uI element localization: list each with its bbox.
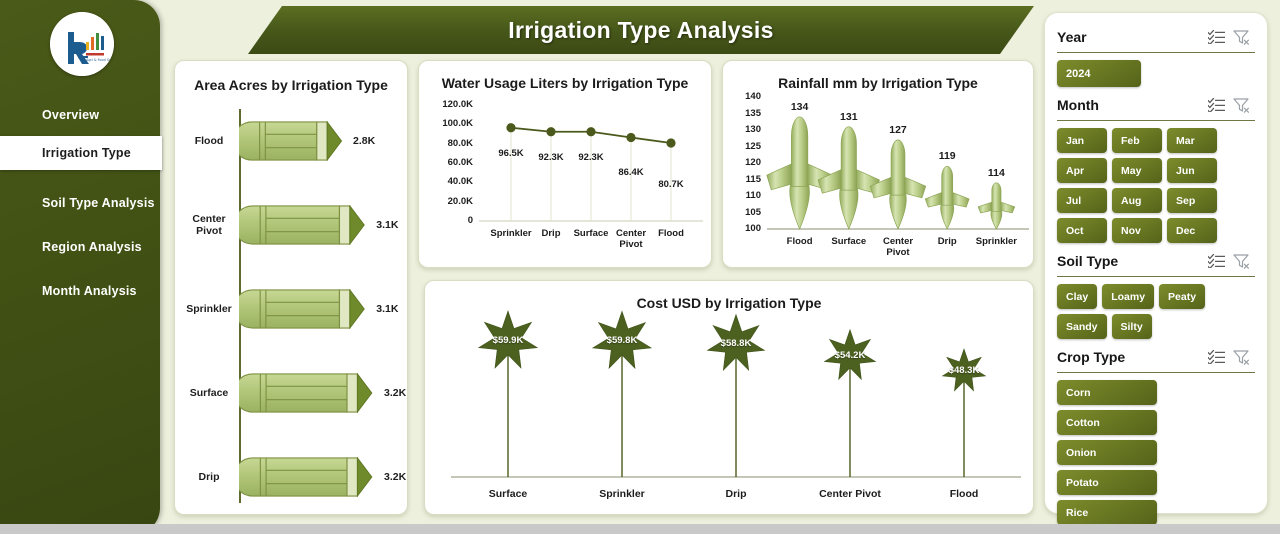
water-point-label: 80.7K [647,179,695,190]
slicer-divider [1057,52,1255,53]
slicer-chip-silty[interactable]: Silty [1112,314,1152,339]
slicer-title: Year [1057,29,1203,45]
clear-filter-button[interactable] [1229,98,1255,113]
multi-select-button[interactable] [1203,98,1229,112]
filter-panel: Year2024MonthJanFebMarAprMayJunJulAugSep… [1044,12,1268,514]
page-header-banner: Irrigation Type Analysis [248,6,1034,54]
acres-category-label: Drip [181,449,237,505]
slicer-divider [1057,120,1255,121]
slicer-chip-mar[interactable]: Mar [1167,128,1217,153]
slicer-chip-sandy[interactable]: Sandy [1057,314,1107,339]
water-x-tick: Flood [645,229,697,240]
rainfall-x-tick: Flood [773,237,827,248]
rainfall-value-label: 131 [827,111,871,123]
acres-bar-row[interactable]: Flood2.8K [175,113,409,169]
slicer-chip-dec[interactable]: Dec [1167,218,1217,243]
acres-value-label: 3.1K [376,197,398,253]
multi-select-icon [1208,30,1225,44]
slicer-chip-peaty[interactable]: Peaty [1159,284,1205,309]
slicer-soil-type: Soil TypeClayLoamyPeatySandySilty [1057,249,1255,339]
clear-filter-icon [1233,350,1251,365]
acres-bar-row[interactable]: Surface3.2K [175,365,409,421]
sidebar-item-label: Irrigation Type [42,146,131,160]
slicer-chip-cotton[interactable]: Cotton [1057,410,1157,435]
slicer-chip-corn[interactable]: Corn [1057,380,1157,405]
rainfall-rocket [767,117,833,229]
company-logo: Agri & Food Supply [50,12,114,76]
slicer-chip-may[interactable]: May [1112,158,1162,183]
slicer-chip-apr[interactable]: Apr [1057,158,1107,183]
cost-x-tick: Flood [920,488,1008,500]
rainfall-rocket [978,183,1015,229]
slicer-header: Soil Type [1057,249,1255,273]
clear-filter-button[interactable] [1229,254,1255,269]
slicer-month: MonthJanFebMarAprMayJunJulAugSepOctNovDe… [1057,93,1255,243]
water-point-label: 92.3K [567,152,615,163]
acres-category-label: Sprinkler [181,281,237,337]
acres-bar-shape [239,289,368,329]
rainfall-x-tick: Sprinkler [969,237,1023,248]
dashboard-root: Agri & Food Supply Overview Irrigation T… [0,0,1280,534]
acres-bar-shape [239,205,368,245]
sidebar-item-soil-type-analysis[interactable]: Soil Type Analysis [0,186,160,220]
acres-bar-shape [239,373,376,413]
slicer-crop-type: Crop TypeCornCottonOnionPotatoRiceSoybea… [1057,345,1255,534]
chart-card-cost: Cost USD by Irrigation Type $59.9K$59.8K… [424,280,1034,515]
slicer-year: Year2024 [1057,25,1255,87]
slicer-divider [1057,276,1255,277]
slicer-chip-aug[interactable]: Aug [1112,188,1162,213]
rainfall-rocket [870,140,925,229]
slicer-title: Month [1057,97,1203,113]
rainfall-value-label: 134 [778,101,822,113]
rainfall-value-label: 119 [925,150,969,162]
clear-filter-icon [1233,98,1251,113]
cost-x-tick: Sprinkler [578,488,666,500]
slicer-title: Crop Type [1057,349,1203,365]
multi-select-icon [1208,254,1225,268]
cost-x-tick: Center Pivot [806,488,894,500]
slicer-chip-potato[interactable]: Potato [1057,470,1157,495]
clear-filter-icon [1233,254,1251,269]
slicer-title: Soil Type [1057,253,1203,269]
rainfall-x-tick: Surface [822,237,876,248]
rainfall-value-label: 127 [876,124,920,136]
clear-filter-button[interactable] [1229,350,1255,365]
slicer-options: 2024 [1057,60,1255,87]
slicer-header: Crop Type [1057,345,1255,369]
acres-value-label: 3.2K [384,365,406,421]
chart-card-rainfall: Rainfall mm by Irrigation Type 100105110… [722,60,1034,268]
rainfall-rocket [925,166,969,229]
acres-category-label: Surface [181,365,237,421]
sidebar-item-overview[interactable]: Overview [0,98,160,132]
slicer-chip-jun[interactable]: Jun [1167,158,1217,183]
multi-select-icon [1208,98,1225,112]
page-title: Irrigation Type Analysis [508,17,773,44]
acres-bar-row[interactable]: Center Pivot3.1K [175,197,409,253]
clear-filter-button[interactable] [1229,30,1255,45]
logo-mark: Agri & Food Supply [50,12,114,76]
slicer-header: Year [1057,25,1255,49]
acres-value-label: 3.2K [384,449,406,505]
rainfall-rocket [818,127,879,229]
slicer-chip-2024[interactable]: 2024 [1057,60,1141,87]
acres-category-label: Center Pivot [181,197,237,253]
slicer-options: JanFebMarAprMayJunJulAugSepOctNovDec [1057,128,1255,243]
slicer-chip-oct[interactable]: Oct [1057,218,1107,243]
sidebar-item-label: Region Analysis [42,240,142,254]
acres-value-label: 3.1K [376,281,398,337]
slicer-chip-clay[interactable]: Clay [1057,284,1097,309]
svg-text:Agri & Food Supply: Agri & Food Supply [86,58,114,62]
multi-select-button[interactable] [1203,254,1229,268]
slicer-header: Month [1057,93,1255,117]
slicer-options: CornCottonOnionPotatoRiceSoybeanSugarcan… [1057,380,1255,534]
multi-select-icon [1208,350,1225,364]
slicer-chip-nov[interactable]: Nov [1112,218,1162,243]
acres-bar-shape [239,457,376,497]
slicer-chip-onion[interactable]: Onion [1057,440,1157,465]
sidebar-item-irrigation-type[interactable]: Irrigation Type [0,136,162,170]
sidebar-item-month-analysis[interactable]: Month Analysis [0,274,160,308]
acres-bar-shape [239,121,345,161]
chart-card-area-acres: Area Acres by Irrigation Type Flood2.8KC… [174,60,408,515]
cost-x-tick: Surface [464,488,552,500]
acres-value-label: 2.8K [353,113,375,169]
cost-x-tick: Drip [692,488,780,500]
clear-filter-icon [1233,30,1251,45]
sidebar: Agri & Food Supply Overview Irrigation T… [0,0,160,534]
acres-category-label: Flood [181,113,237,169]
chart-card-water-usage: Water Usage Liters by Irrigation Type 02… [418,60,712,268]
rainfall-x-tick: Drip [920,237,974,248]
chart-title: Area Acres by Irrigation Type [175,77,407,93]
slicer-chip-jul[interactable]: Jul [1057,188,1107,213]
window-bottom-strip [0,524,1280,534]
sidebar-item-label: Overview [42,108,99,122]
rainfall-x-tick: Center Pivot [871,237,925,259]
slicer-chip-jan[interactable]: Jan [1057,128,1107,153]
sidebar-item-region-analysis[interactable]: Region Analysis [0,230,160,264]
water-point-label: 86.4K [607,167,655,178]
slicer-options: ClayLoamyPeatySandySilty [1057,284,1255,339]
cost-lollipop-series [425,281,1035,516]
sidebar-item-label: Month Analysis [42,284,137,298]
acres-bar-row[interactable]: Sprinkler3.1K [175,281,409,337]
sidebar-item-label: Soil Type Analysis [42,196,155,210]
slicer-chip-rice[interactable]: Rice [1057,500,1157,525]
rainfall-value-label: 114 [974,167,1018,179]
slicer-chip-feb[interactable]: Feb [1112,128,1162,153]
multi-select-button[interactable] [1203,350,1229,364]
multi-select-button[interactable] [1203,30,1229,44]
slicer-chip-loamy[interactable]: Loamy [1102,284,1154,309]
slicer-divider [1057,372,1255,373]
slicer-chip-sep[interactable]: Sep [1167,188,1217,213]
acres-bar-row[interactable]: Drip3.2K [175,449,409,505]
